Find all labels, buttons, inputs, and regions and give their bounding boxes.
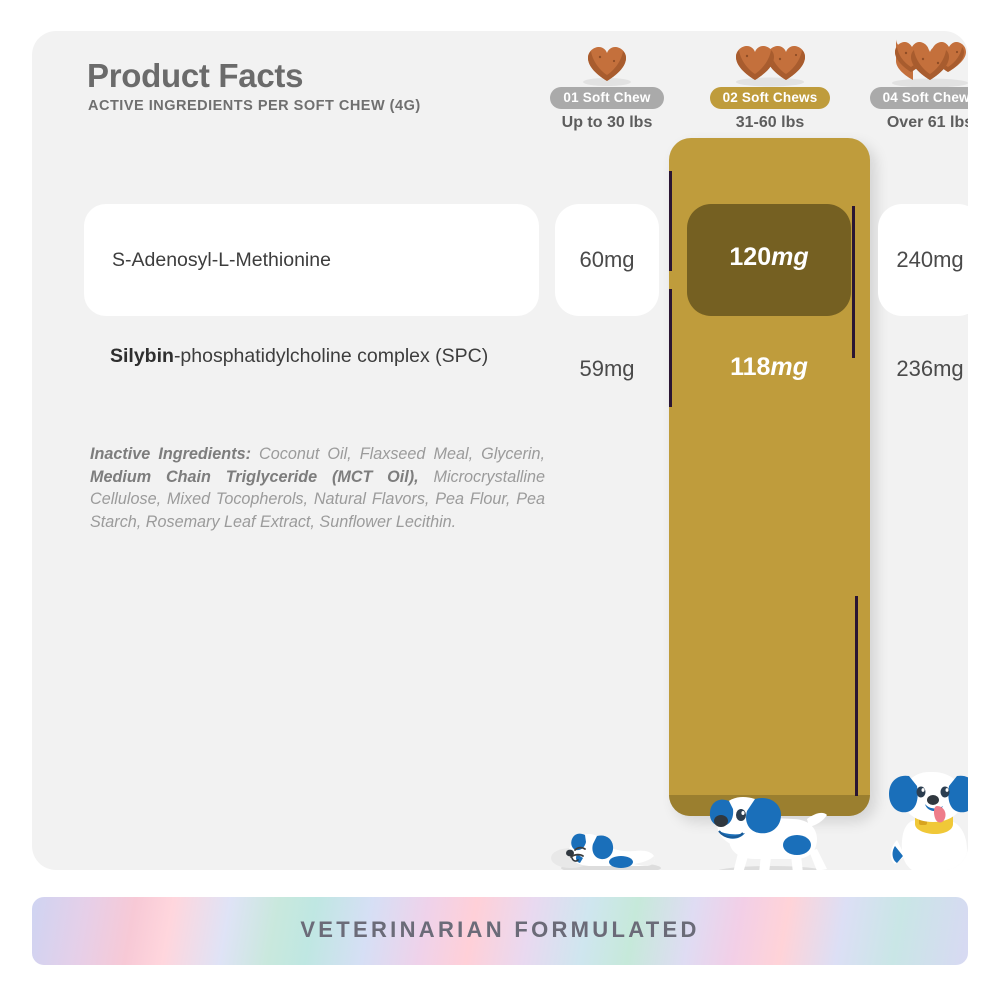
ingredient-name-2: Silybin-phosphatidylcholine complex (SPC… (110, 342, 540, 370)
dose-column-header-2[interactable]: 02 Soft Chews 31-60 lbs (695, 39, 845, 132)
weight-range-label-2: 31-60 lbs (695, 114, 845, 132)
product-facts-panel: Product Facts ACTIVE INGREDIENTS PER SOF… (32, 31, 968, 870)
dose-value-r1c1: 60mg (555, 247, 659, 273)
ingredient-name-1: S-Adenosyl-L-Methionine (112, 247, 532, 273)
column-edge-marker (669, 289, 672, 407)
walking-dog-illustration (699, 777, 844, 870)
veterinarian-formulated-banner: VETERINARIAN FORMULATED (32, 897, 968, 965)
page-subtitle: ACTIVE INGREDIENTS PER SOFT CHEW (4G) (88, 98, 421, 114)
column-edge-marker (669, 171, 672, 271)
dose-column-header-1[interactable]: 01 Soft Chew Up to 30 lbs (532, 39, 682, 132)
dose-unit-r2c2: mg (770, 353, 808, 381)
chew-count-badge-1: 01 Soft Chew (550, 87, 663, 109)
dose-unit-r1c2: mg (771, 243, 809, 271)
banner-text: VETERINARIAN FORMULATED (32, 917, 968, 943)
dose-value-r2c2: 118mg (687, 353, 851, 382)
dose-number-r2c2: 118 (730, 353, 770, 381)
sitting-dog-illustration (877, 764, 968, 870)
page-title: Product Facts (87, 57, 303, 95)
column-edge-marker (852, 206, 855, 358)
weight-range-label-3: Over 61 lbs (855, 114, 968, 132)
column-edge-marker (855, 596, 858, 796)
chew-count-badge-2: 02 Soft Chews (710, 87, 831, 109)
weight-range-label-1: Up to 30 lbs (532, 114, 682, 132)
dose-value-r1c3: 240mg (878, 247, 968, 273)
inactive-ingredients-bold: Medium Chain Triglyceride (MCT Oil), (90, 468, 419, 486)
dose-number-r1c2: 120 (729, 243, 771, 271)
sleeping-puppy-illustration (549, 806, 667, 870)
chew-count-badge-3: 04 Soft Chews (870, 87, 968, 109)
inactive-ingredients-text: Inactive Ingredients: Coconut Oil, Flaxs… (90, 443, 545, 533)
ingredient-name-2-rest: -phosphatidylcholine complex (SPC) (174, 345, 488, 367)
product-facts-infographic: Product Facts ACTIVE INGREDIENTS PER SOF… (0, 0, 1000, 999)
dose-value-r1c2: 120mg (687, 243, 851, 272)
inactive-ingredients-label: Inactive Ingredients: (90, 445, 251, 463)
dose-column-header-3[interactable]: 04 Soft Chews Over 61 lbs (855, 39, 968, 132)
two-soft-chews-icon (695, 39, 845, 87)
dose-value-r2c3: 236mg (878, 356, 968, 382)
one-soft-chew-icon (532, 39, 682, 87)
dose-value-r2c1: 59mg (555, 356, 659, 382)
inactive-ingredients-part1: Coconut Oil, Flaxseed Meal, Glycerin, (251, 445, 545, 463)
ingredient-name-2-bold: Silybin (110, 345, 174, 367)
four-soft-chews-icon (855, 39, 968, 87)
